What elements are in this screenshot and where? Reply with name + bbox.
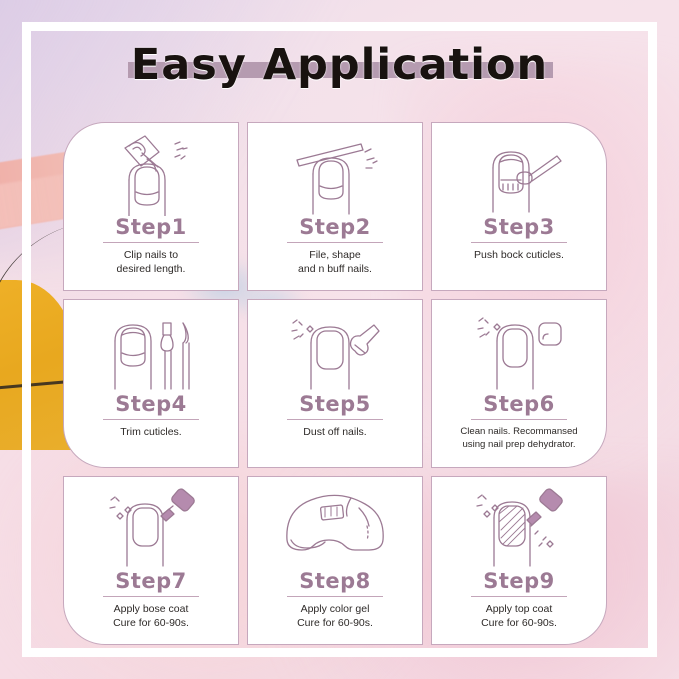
step-label: Step1 — [115, 215, 187, 239]
step-label: Step9 — [483, 569, 555, 593]
cuticle-pusher-icon — [432, 131, 606, 217]
step-card-4[interactable]: Step4 Trim cuticles. — [63, 299, 239, 468]
step-card-8[interactable]: Step8 Apply color gel Cure for 60-90s. — [247, 476, 423, 645]
step-label: Step7 — [115, 569, 187, 593]
step-label: Step6 — [483, 392, 555, 416]
instruction-poster: Easy Application Step1 — [0, 0, 679, 679]
step-description: Clip nails to desired length. — [107, 249, 196, 276]
step-card-7[interactable]: Step7 Apply bose coat Cure for 60-90s. — [63, 476, 239, 645]
dust-brush-icon — [248, 308, 422, 394]
steps-grid: Step1 Clip nails to desired length. Step… — [63, 122, 616, 645]
nail-clipper-icon — [64, 131, 238, 217]
base-coat-brush-icon — [64, 485, 238, 571]
uv-lamp-icon — [248, 485, 422, 571]
nail-file-icon — [248, 131, 422, 217]
step-divider — [103, 419, 199, 420]
step-label: Step5 — [299, 392, 371, 416]
top-coat-brush-icon — [432, 485, 606, 571]
step-description: Trim cuticles. — [110, 426, 191, 440]
step-description: Dust off nails. — [293, 426, 376, 440]
step-divider — [287, 419, 383, 420]
step-label: Step8 — [299, 569, 371, 593]
step-label: Step2 — [299, 215, 371, 239]
title-area: Easy Application — [0, 36, 679, 98]
step-card-5[interactable]: Step5 Dust off nails. — [247, 299, 423, 468]
cleaning-wipe-icon — [432, 308, 606, 394]
step-divider — [471, 242, 567, 243]
step-card-9[interactable]: Step9 Apply top coat Cure for 60-90s. — [431, 476, 607, 645]
step-label: Step3 — [483, 215, 555, 239]
step-card-2[interactable]: Step2 File, shape and n buff nails. — [247, 122, 423, 291]
step-label: Step4 — [115, 392, 187, 416]
step-description: Clean nails. Recommansed using nail prep… — [454, 426, 583, 451]
step-card-1[interactable]: Step1 Clip nails to desired length. — [63, 122, 239, 291]
step-card-6[interactable]: Step6 Clean nails. Recommansed using nai… — [431, 299, 607, 468]
step-description: Apply top coat Cure for 60-90s. — [471, 603, 567, 630]
step-divider — [471, 596, 567, 597]
step-divider — [287, 242, 383, 243]
step-card-3[interactable]: Step3 Push bock cuticles. — [431, 122, 607, 291]
cuticle-trimmer-icon — [64, 308, 238, 394]
step-description: Apply bose coat Cure for 60-90s. — [103, 603, 199, 630]
step-divider — [287, 596, 383, 597]
step-description: Apply color gel Cure for 60-90s. — [287, 603, 383, 630]
step-divider — [471, 419, 567, 420]
step-description: File, shape and n buff nails. — [288, 249, 382, 276]
page-title: Easy Application — [0, 36, 679, 94]
step-divider — [103, 242, 199, 243]
step-divider — [103, 596, 199, 597]
step-description: Push bock cuticles. — [464, 249, 574, 263]
